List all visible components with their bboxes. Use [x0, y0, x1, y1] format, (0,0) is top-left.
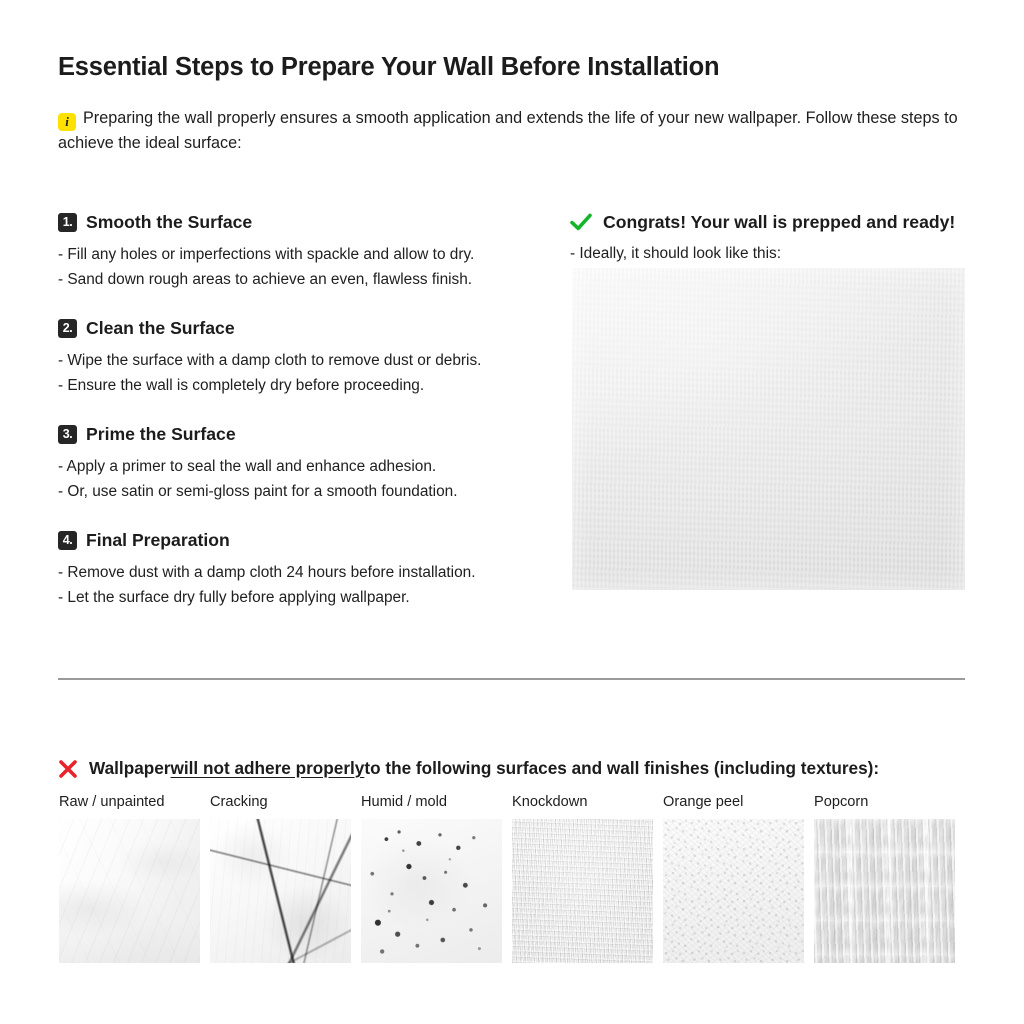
step-bullet: - Ensure the wall is completely dry befo…	[58, 374, 538, 399]
step-number-badge: 3.	[58, 425, 77, 444]
step-item: 3. Prime the Surface - Apply a primer to…	[58, 422, 538, 504]
step-item: 2. Clean the Surface - Wipe the surface …	[58, 316, 538, 398]
step-title: Clean the Surface	[86, 318, 235, 339]
raw-unpainted-texture-image	[59, 819, 200, 963]
success-panel: Congrats! Your wall is prepped and ready…	[570, 210, 970, 274]
texture-label: Popcorn	[814, 793, 955, 811]
texture-label: Orange peel	[663, 793, 804, 811]
step-title: Final Preparation	[86, 530, 230, 551]
texture-item: Raw / unpainted	[59, 793, 200, 963]
step-bullet: - Sand down rough areas to achieve an ev…	[58, 268, 538, 293]
success-subtext: - Ideally, it should look like this:	[570, 243, 970, 265]
success-heading: Congrats! Your wall is prepped and ready…	[570, 210, 970, 234]
step-number-badge: 2.	[58, 319, 77, 338]
section-divider	[58, 678, 965, 680]
texture-label: Knockdown	[512, 793, 653, 811]
humid-mold-texture-image	[361, 819, 502, 963]
step-title: Prime the Surface	[86, 424, 236, 445]
step-bullet: - Apply a primer to seal the wall and en…	[58, 455, 538, 480]
step-title: Smooth the Surface	[86, 212, 252, 233]
orange-peel-texture-image	[663, 819, 804, 963]
warning-text-before: Wallpaper	[89, 758, 171, 779]
step-heading: 4. Final Preparation	[58, 528, 538, 552]
texture-item: Orange peel	[663, 793, 804, 963]
step-number-badge: 1.	[58, 213, 77, 232]
warning-heading: Wallpaper will not adhere properly to th…	[58, 758, 879, 779]
red-x-icon	[58, 759, 78, 779]
success-heading-text: Congrats! Your wall is prepped and ready…	[603, 212, 955, 233]
texture-item: Popcorn	[814, 793, 955, 963]
step-heading: 1. Smooth the Surface	[58, 210, 538, 234]
step-item: 4. Final Preparation - Remove dust with …	[58, 528, 538, 610]
texture-label: Raw / unpainted	[59, 793, 200, 811]
warning-text-after: to the following surfaces and wall finis…	[364, 758, 879, 779]
step-bullet: - Or, use satin or semi-gloss paint for …	[58, 480, 538, 505]
prepped-wall-sample-image	[572, 268, 965, 590]
step-item: 1. Smooth the Surface - Fill any holes o…	[58, 210, 538, 292]
step-bullet: - Fill any holes or imperfections with s…	[58, 243, 538, 268]
cracking-texture-image	[210, 819, 351, 963]
texture-item: Humid / mold	[361, 793, 502, 963]
step-bullet: - Wipe the surface with a damp cloth to …	[58, 349, 538, 374]
green-check-icon	[570, 213, 592, 232]
knockdown-texture-image	[512, 819, 653, 963]
wall-prep-guide-page: Essential Steps to Prepare Your Wall Bef…	[0, 0, 1024, 1024]
intro-text: Preparing the wall properly ensures a sm…	[58, 109, 958, 152]
intro-paragraph: iPreparing the wall properly ensures a s…	[58, 106, 973, 155]
texture-label: Cracking	[210, 793, 351, 811]
texture-label: Humid / mold	[361, 793, 502, 811]
step-heading: 2. Clean the Surface	[58, 316, 538, 340]
warning-text-emphasis: will not adhere properly	[171, 758, 365, 779]
texture-item: Knockdown	[512, 793, 653, 963]
info-icon: i	[58, 113, 76, 131]
step-bullet: - Let the surface dry fully before apply…	[58, 586, 538, 611]
step-number-badge: 4.	[58, 531, 77, 550]
step-bullet: - Remove dust with a damp cloth 24 hours…	[58, 561, 538, 586]
step-heading: 3. Prime the Surface	[58, 422, 538, 446]
page-title: Essential Steps to Prepare Your Wall Bef…	[58, 53, 719, 82]
steps-column: 1. Smooth the Surface - Fill any holes o…	[58, 210, 538, 610]
texture-item: Cracking	[210, 793, 351, 963]
popcorn-texture-image	[814, 819, 955, 963]
bad-surfaces-gallery: Raw / unpainted Cracking Humid / mold Kn…	[59, 793, 966, 963]
